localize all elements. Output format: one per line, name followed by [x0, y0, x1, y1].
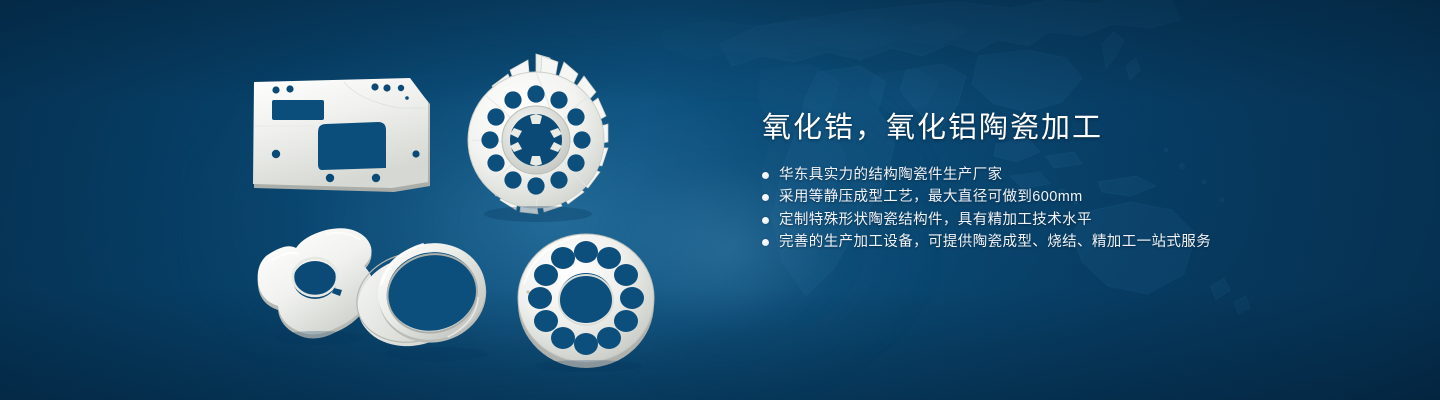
product-collage — [0, 0, 720, 400]
banner-copy: 氧化锆，氧化铝陶瓷加工 华东具实力的结构陶瓷件生产厂家 采用等静压成型工艺，最大… — [762, 108, 1382, 254]
feature-text: 完善的生产加工设备，可提供陶瓷成型、烧结、精加工一站式服务 — [779, 231, 1211, 253]
ceramic-impeller-disc — [446, 48, 626, 228]
feature-text: 定制特殊形状陶瓷结构件，具有精加工技术水平 — [779, 209, 1092, 231]
ceramic-machined-plate — [248, 78, 434, 198]
feature-text: 华东具实力的结构陶瓷件生产厂家 — [779, 164, 1003, 186]
list-item: 采用等静压成型工艺，最大直径可做到600mm — [762, 186, 1382, 208]
product-hero-banner: 氧化锆，氧化铝陶瓷加工 华东具实力的结构陶瓷件生产厂家 采用等静压成型工艺，最大… — [0, 0, 1440, 400]
bullet-dot-icon — [762, 239, 769, 246]
feature-text: 采用等静压成型工艺，最大直径可做到600mm — [779, 186, 1083, 208]
bullet-dot-icon — [762, 194, 769, 201]
list-item: 华东具实力的结构陶瓷件生产厂家 — [762, 164, 1382, 186]
ceramic-perforated-flange — [512, 226, 662, 372]
bullet-dot-icon — [762, 217, 769, 224]
list-item: 完善的生产加工设备，可提供陶瓷成型、烧结、精加工一站式服务 — [762, 231, 1382, 253]
bullet-dot-icon — [762, 172, 769, 179]
banner-title: 氧化锆，氧化铝陶瓷加工 — [762, 108, 1382, 148]
banner-feature-list: 华东具实力的结构陶瓷件生产厂家 采用等静压成型工艺，最大直径可做到600mm 定… — [762, 164, 1382, 254]
ceramic-ring — [340, 222, 518, 362]
list-item: 定制特殊形状陶瓷结构件，具有精加工技术水平 — [762, 209, 1382, 231]
